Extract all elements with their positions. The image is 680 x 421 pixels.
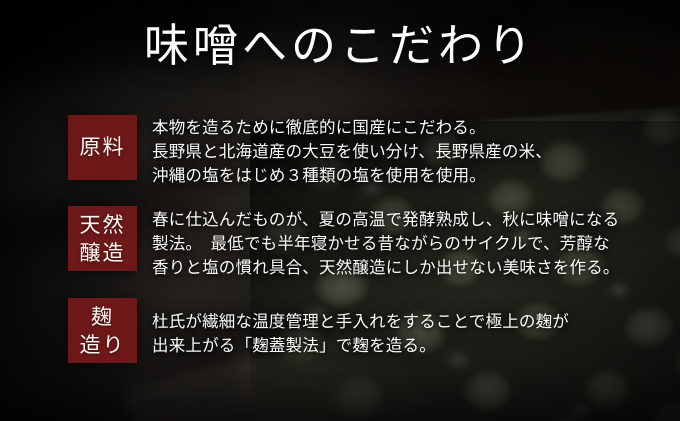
section-body-koji-zukuri: 杜氏が繊細な温度管理と手入れをすることで極上の麹が 出来上がる「麹蓋製法」で麹を… <box>152 298 569 358</box>
section-tag-line: 麹 <box>68 303 137 331</box>
section-body-genryo: 本物を造るために徹底的に国産にこだわる。 長野県と北海道産の大豆を使い分け、長野… <box>152 115 552 188</box>
section-body-tennen-jozo: 春に仕込んだものが、夏の高温で発酵熟成し、秋に味噌になる 製法。 最低でも半年寝… <box>152 206 620 280</box>
section-koji-zukuri: 麹 造り 杜氏が繊細な温度管理と手入れをすることで極上の麹が 出来上がる「麹蓋製… <box>68 298 670 363</box>
body-line: 杜氏が繊細な温度管理と手入れをすることで極上の麹が <box>152 310 569 334</box>
page-title: 味噌へのこだわり <box>0 24 680 69</box>
section-tag-line: 原料 <box>68 133 137 161</box>
body-line: 長野県と北海道産の大豆を使い分け、長野県産の米、 <box>152 140 552 164</box>
body-line: 製法。 最低でも半年寝かせる昔ながらのサイクルで、芳醇な <box>152 232 620 256</box>
body-line: 香りと塩の慣れ具合、天然醸造にしか出せない美味さを作る。 <box>152 256 620 280</box>
promo-banner: 味噌へのこだわり 原料 本物を造るために徹底的に国産にこだわる。 長野県と北海道… <box>0 0 680 421</box>
section-tag-koji-zukuri: 麹 造り <box>68 298 137 363</box>
body-line: 沖縄の塩をはじめ３種類の塩を使用を使用。 <box>152 164 552 188</box>
content-layer: 味噌へのこだわり 原料 本物を造るために徹底的に国産にこだわる。 長野県と北海道… <box>0 0 680 421</box>
section-tag-line: 天然 <box>68 211 137 239</box>
body-line: 春に仕込んだものが、夏の高温で発酵熟成し、秋に味噌になる <box>152 208 620 232</box>
section-tag-line: 醸造 <box>68 239 137 267</box>
body-line: 本物を造るために徹底的に国産にこだわる。 <box>152 116 552 140</box>
section-tag-genryo: 原料 <box>68 115 137 180</box>
section-tennen-jozo: 天然 醸造 春に仕込んだものが、夏の高温で発酵熟成し、秋に味噌になる 製法。 最… <box>68 206 670 280</box>
section-tag-line: 造り <box>68 331 137 359</box>
section-genryo: 原料 本物を造るために徹底的に国産にこだわる。 長野県と北海道産の大豆を使い分け… <box>68 115 670 188</box>
section-tag-tennen-jozo: 天然 醸造 <box>68 206 137 271</box>
body-line: 出来上がる「麹蓋製法」で麹を造る。 <box>152 334 569 358</box>
